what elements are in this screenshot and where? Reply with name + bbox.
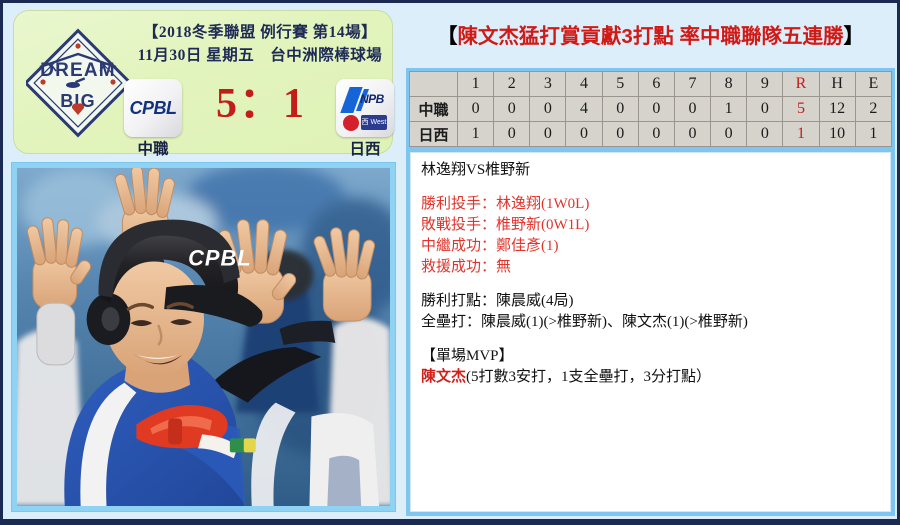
cpbl-logo-text: CPBL [124, 98, 182, 119]
cell-hits: 12 [819, 97, 855, 122]
header-cell-inning-5: 5 [602, 72, 638, 97]
header-cell-runs: R [783, 72, 819, 97]
npb-logo-text: NPB [360, 92, 384, 106]
cell-inning-7: 0 [674, 97, 710, 122]
cell-inning-4: 0 [566, 122, 602, 147]
cell-errors: 2 [855, 97, 891, 122]
pitching-matchup: 林逸翔VS椎野新 [421, 160, 880, 181]
svg-text:CPBL: CPBL [188, 245, 252, 270]
cell-inning-6: 0 [638, 97, 674, 122]
mvp-line: 陳文杰(5打數3安打，1支全壘打，3分打點） [421, 367, 880, 388]
winning-pitcher: 勝利投手：林逸翔(1W0L) [421, 194, 880, 215]
linescore-header-row: 1 2 3 4 5 6 7 8 9 R H E [410, 72, 892, 97]
cell-inning-3: 0 [530, 122, 566, 147]
header-cell-errors: E [855, 72, 891, 97]
header-cell-inning-6: 6 [638, 72, 674, 97]
cell-runs: 5 [783, 97, 819, 122]
table-row: 日西 1 0 0 0 0 0 0 0 0 1 10 1 [410, 122, 892, 147]
left-column: DREAM BIG 【2018冬季聯盟 例行賽 第14場】 11月30日 星期五… [7, 5, 400, 520]
date-venue-label: 11月30日 星期五 台中洲際棒球場 [126, 43, 394, 65]
row-team-name: 日西 [410, 122, 458, 147]
cell-inning-1: 1 [458, 122, 494, 147]
save-pitcher: 救援成功：無 [421, 257, 880, 278]
linescore-table: 1 2 3 4 5 6 7 8 9 R H E [409, 71, 892, 147]
cell-inning-9: 0 [747, 122, 783, 147]
cell-errors: 1 [855, 122, 891, 147]
cell-inning-4: 4 [566, 97, 602, 122]
spacer [421, 333, 880, 346]
cell-inning-8: 1 [711, 97, 747, 122]
mvp-player-stats: (5打數3安打，1支全壘打，3分打點） [466, 369, 711, 385]
game-notes-frame: 林逸翔VS椎野新 勝利投手：林逸翔(1W0L) 敗戰投手：椎野新(0W1L) 中… [406, 148, 895, 516]
header-cell-team [410, 72, 458, 97]
svg-text:DREAM: DREAM [40, 60, 116, 81]
row-team-name: 中職 [410, 97, 458, 122]
npb-west-badge: 西 West [361, 115, 387, 130]
screenshot-root: DREAM BIG 【2018冬季聯盟 例行賽 第14場】 11月30日 星期五… [0, 0, 900, 525]
header-cell-inning-2: 2 [494, 72, 530, 97]
away-team-name: 日西 [320, 137, 410, 159]
cell-inning-2: 0 [494, 122, 530, 147]
dream-big-logo: DREAM BIG [26, 27, 130, 139]
cell-inning-7: 0 [674, 122, 710, 147]
cell-inning-5: 0 [602, 122, 638, 147]
spacer [421, 278, 880, 291]
cell-inning-8: 0 [711, 122, 747, 147]
cell-inning-9: 0 [747, 97, 783, 122]
photo-frame: CPBL [11, 162, 396, 512]
header-cell-inning-8: 8 [711, 72, 747, 97]
header-cell-inning-7: 7 [674, 72, 710, 97]
mvp-player-name: 陳文杰 [421, 369, 466, 385]
page-title: 【陳文杰猛打賞貢獻3打點 率中職聯隊五連勝】 [402, 19, 899, 49]
cell-inning-3: 0 [530, 97, 566, 122]
game-notes-panel: 林逸翔VS椎野新 勝利投手：林逸翔(1W0L) 敗戰投手：椎野新(0W1L) 中… [410, 152, 891, 512]
header-cell-hits: H [819, 72, 855, 97]
photo-illustration: CPBL [17, 168, 390, 506]
league-round-label: 【2018冬季聯盟 例行賽 第14場】 [126, 20, 394, 42]
cell-inning-1: 0 [458, 97, 494, 122]
game-header-card: DREAM BIG 【2018冬季聯盟 例行賽 第14場】 11月30日 星期五… [13, 10, 393, 154]
headline-bracket-open: 【 [437, 25, 458, 48]
headline-text: 陳文杰猛打賞貢獻3打點 率中職聯隊五連勝 [457, 25, 843, 48]
cell-runs: 1 [783, 122, 819, 147]
baseball-icon [343, 115, 359, 131]
cell-hits: 10 [819, 122, 855, 147]
mvp-header: 【單場MVP】 [421, 346, 880, 367]
winning-rbi: 勝利打點：陳晨威(4局) [421, 291, 880, 312]
cell-inning-5: 0 [602, 97, 638, 122]
cpbl-logo: CPBL [124, 79, 182, 137]
spacer [421, 181, 880, 194]
table-row: 中職 0 0 0 4 0 0 0 1 0 5 12 2 [410, 97, 892, 122]
cell-inning-6: 0 [638, 122, 674, 147]
player-celebration-photo: CPBL [17, 168, 390, 506]
npb-west-logo: NPB 西 West [336, 79, 394, 137]
hold-pitcher: 中繼成功：鄭佳彥(1) [421, 236, 880, 257]
home-team-name: 中職 [108, 137, 198, 159]
final-score: 5：1 [186, 75, 336, 133]
linescore-frame: 1 2 3 4 5 6 7 8 9 R H E [406, 68, 895, 150]
headline-bracket-close: 】 [844, 25, 865, 48]
header-cell-inning-3: 3 [530, 72, 566, 97]
right-column: 【陳文杰猛打賞貢獻3打點 率中職聯隊五連勝】 1 2 3 4 5 6 7 8 [402, 5, 899, 522]
header-cell-inning-4: 4 [566, 72, 602, 97]
cell-inning-2: 0 [494, 97, 530, 122]
header-cell-inning-9: 9 [747, 72, 783, 97]
header-cell-inning-1: 1 [458, 72, 494, 97]
losing-pitcher: 敗戰投手：椎野新(0W1L) [421, 215, 880, 236]
home-runs: 全壘打：陳晨威(1)(>椎野新)、陳文杰(1)(>椎野新) [421, 312, 880, 333]
